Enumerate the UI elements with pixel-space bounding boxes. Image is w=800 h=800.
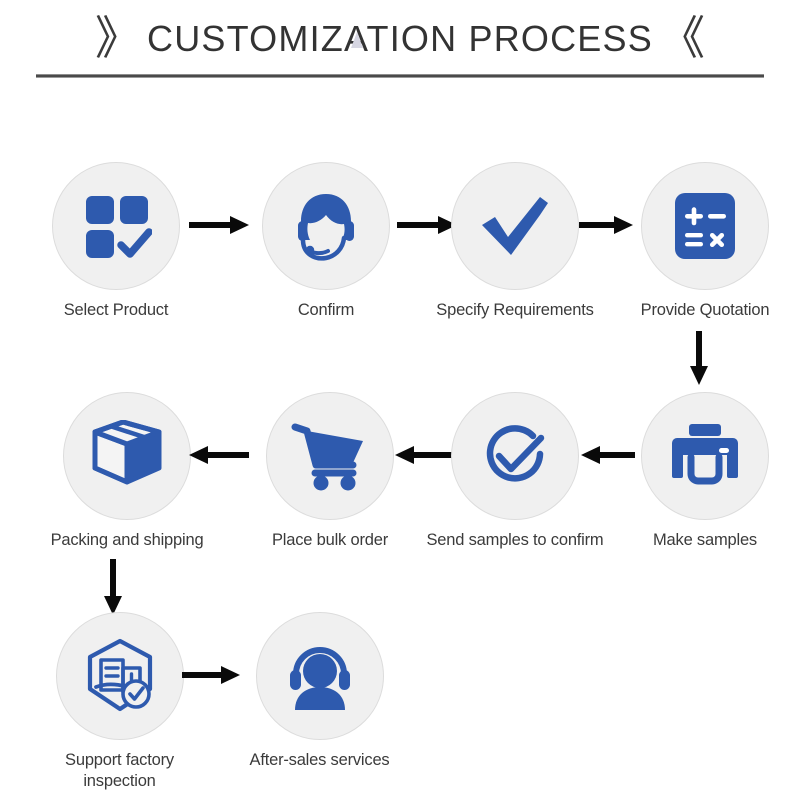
step-label: Select Product: [36, 300, 196, 321]
arrow-step4-to-step5: [686, 330, 712, 386]
step-node-place-bulk-order[interactable]: Place bulk order: [245, 392, 415, 551]
headset-person-icon: [282, 640, 358, 712]
package-box-icon: [89, 420, 165, 492]
shopping-cart-icon: [291, 421, 369, 491]
factory-shield-check-icon: [83, 638, 157, 714]
step-label: Make samples: [620, 530, 790, 551]
arrow-step1-to-step2: [188, 212, 250, 238]
step-node-send-samples-to-confirm[interactable]: Send samples to confirm: [420, 392, 610, 551]
calculator-icon: [672, 190, 738, 262]
printer-icon: [667, 422, 743, 490]
step-label: Place bulk order: [245, 530, 415, 551]
header: 》 CUSTOMIZATION PROCESS 《: [0, 0, 800, 90]
right-chevron-icon: 《: [659, 15, 705, 61]
circle-check-icon: [478, 419, 552, 493]
step-node-make-samples[interactable]: Make samples: [620, 392, 790, 551]
customization-process-infographic: 》 CUSTOMIZATION PROCESS 《 Select Product: [0, 0, 800, 800]
step-icon-circle: [451, 392, 579, 520]
step-node-after-sales-services[interactable]: After-sales services: [232, 612, 407, 771]
step-icon-circle: [262, 162, 390, 290]
step-node-specify-requirements[interactable]: Specify Requirements: [425, 162, 605, 321]
step-label: Send samples to confirm: [420, 530, 610, 551]
left-chevron-icon: 》: [95, 15, 141, 61]
step-label: Specify Requirements: [425, 300, 605, 321]
header-divider: [36, 74, 764, 78]
step-icon-circle: [641, 162, 769, 290]
page-title-text: CUSTOMIZATION PROCESS: [147, 18, 653, 59]
step-label: Packing and shipping: [32, 530, 222, 551]
step-icon-circle: [266, 392, 394, 520]
checkmark-icon: [478, 189, 552, 263]
step-node-confirm[interactable]: Confirm: [246, 162, 406, 321]
title-row: 》 CUSTOMIZATION PROCESS 《: [0, 10, 800, 68]
step-node-support-factory-inspection[interactable]: Support factory inspection: [32, 612, 207, 791]
step-node-provide-quotation[interactable]: Provide Quotation: [620, 162, 790, 321]
step-icon-circle: [52, 162, 180, 290]
step-icon-circle: [641, 392, 769, 520]
arrow-step7-to-step8: [186, 442, 250, 468]
support-agent-icon: [288, 188, 364, 264]
step-label: Provide Quotation: [620, 300, 790, 321]
step-label: After-sales services: [232, 750, 407, 771]
step-icon-circle: [451, 162, 579, 290]
step-icon-circle: [256, 612, 384, 740]
step-icon-circle: [63, 392, 191, 520]
step-icon-circle: [56, 612, 184, 740]
step-label: Support factory inspection: [32, 750, 207, 791]
step-label: Confirm: [246, 300, 406, 321]
arrow-step8-to-step9: [100, 558, 126, 616]
page-title: CUSTOMIZATION PROCESS: [147, 18, 653, 60]
grid-check-icon: [80, 190, 152, 262]
step-node-select-product[interactable]: Select Product: [36, 162, 196, 321]
step-node-packing-and-shipping[interactable]: Packing and shipping: [32, 392, 222, 551]
